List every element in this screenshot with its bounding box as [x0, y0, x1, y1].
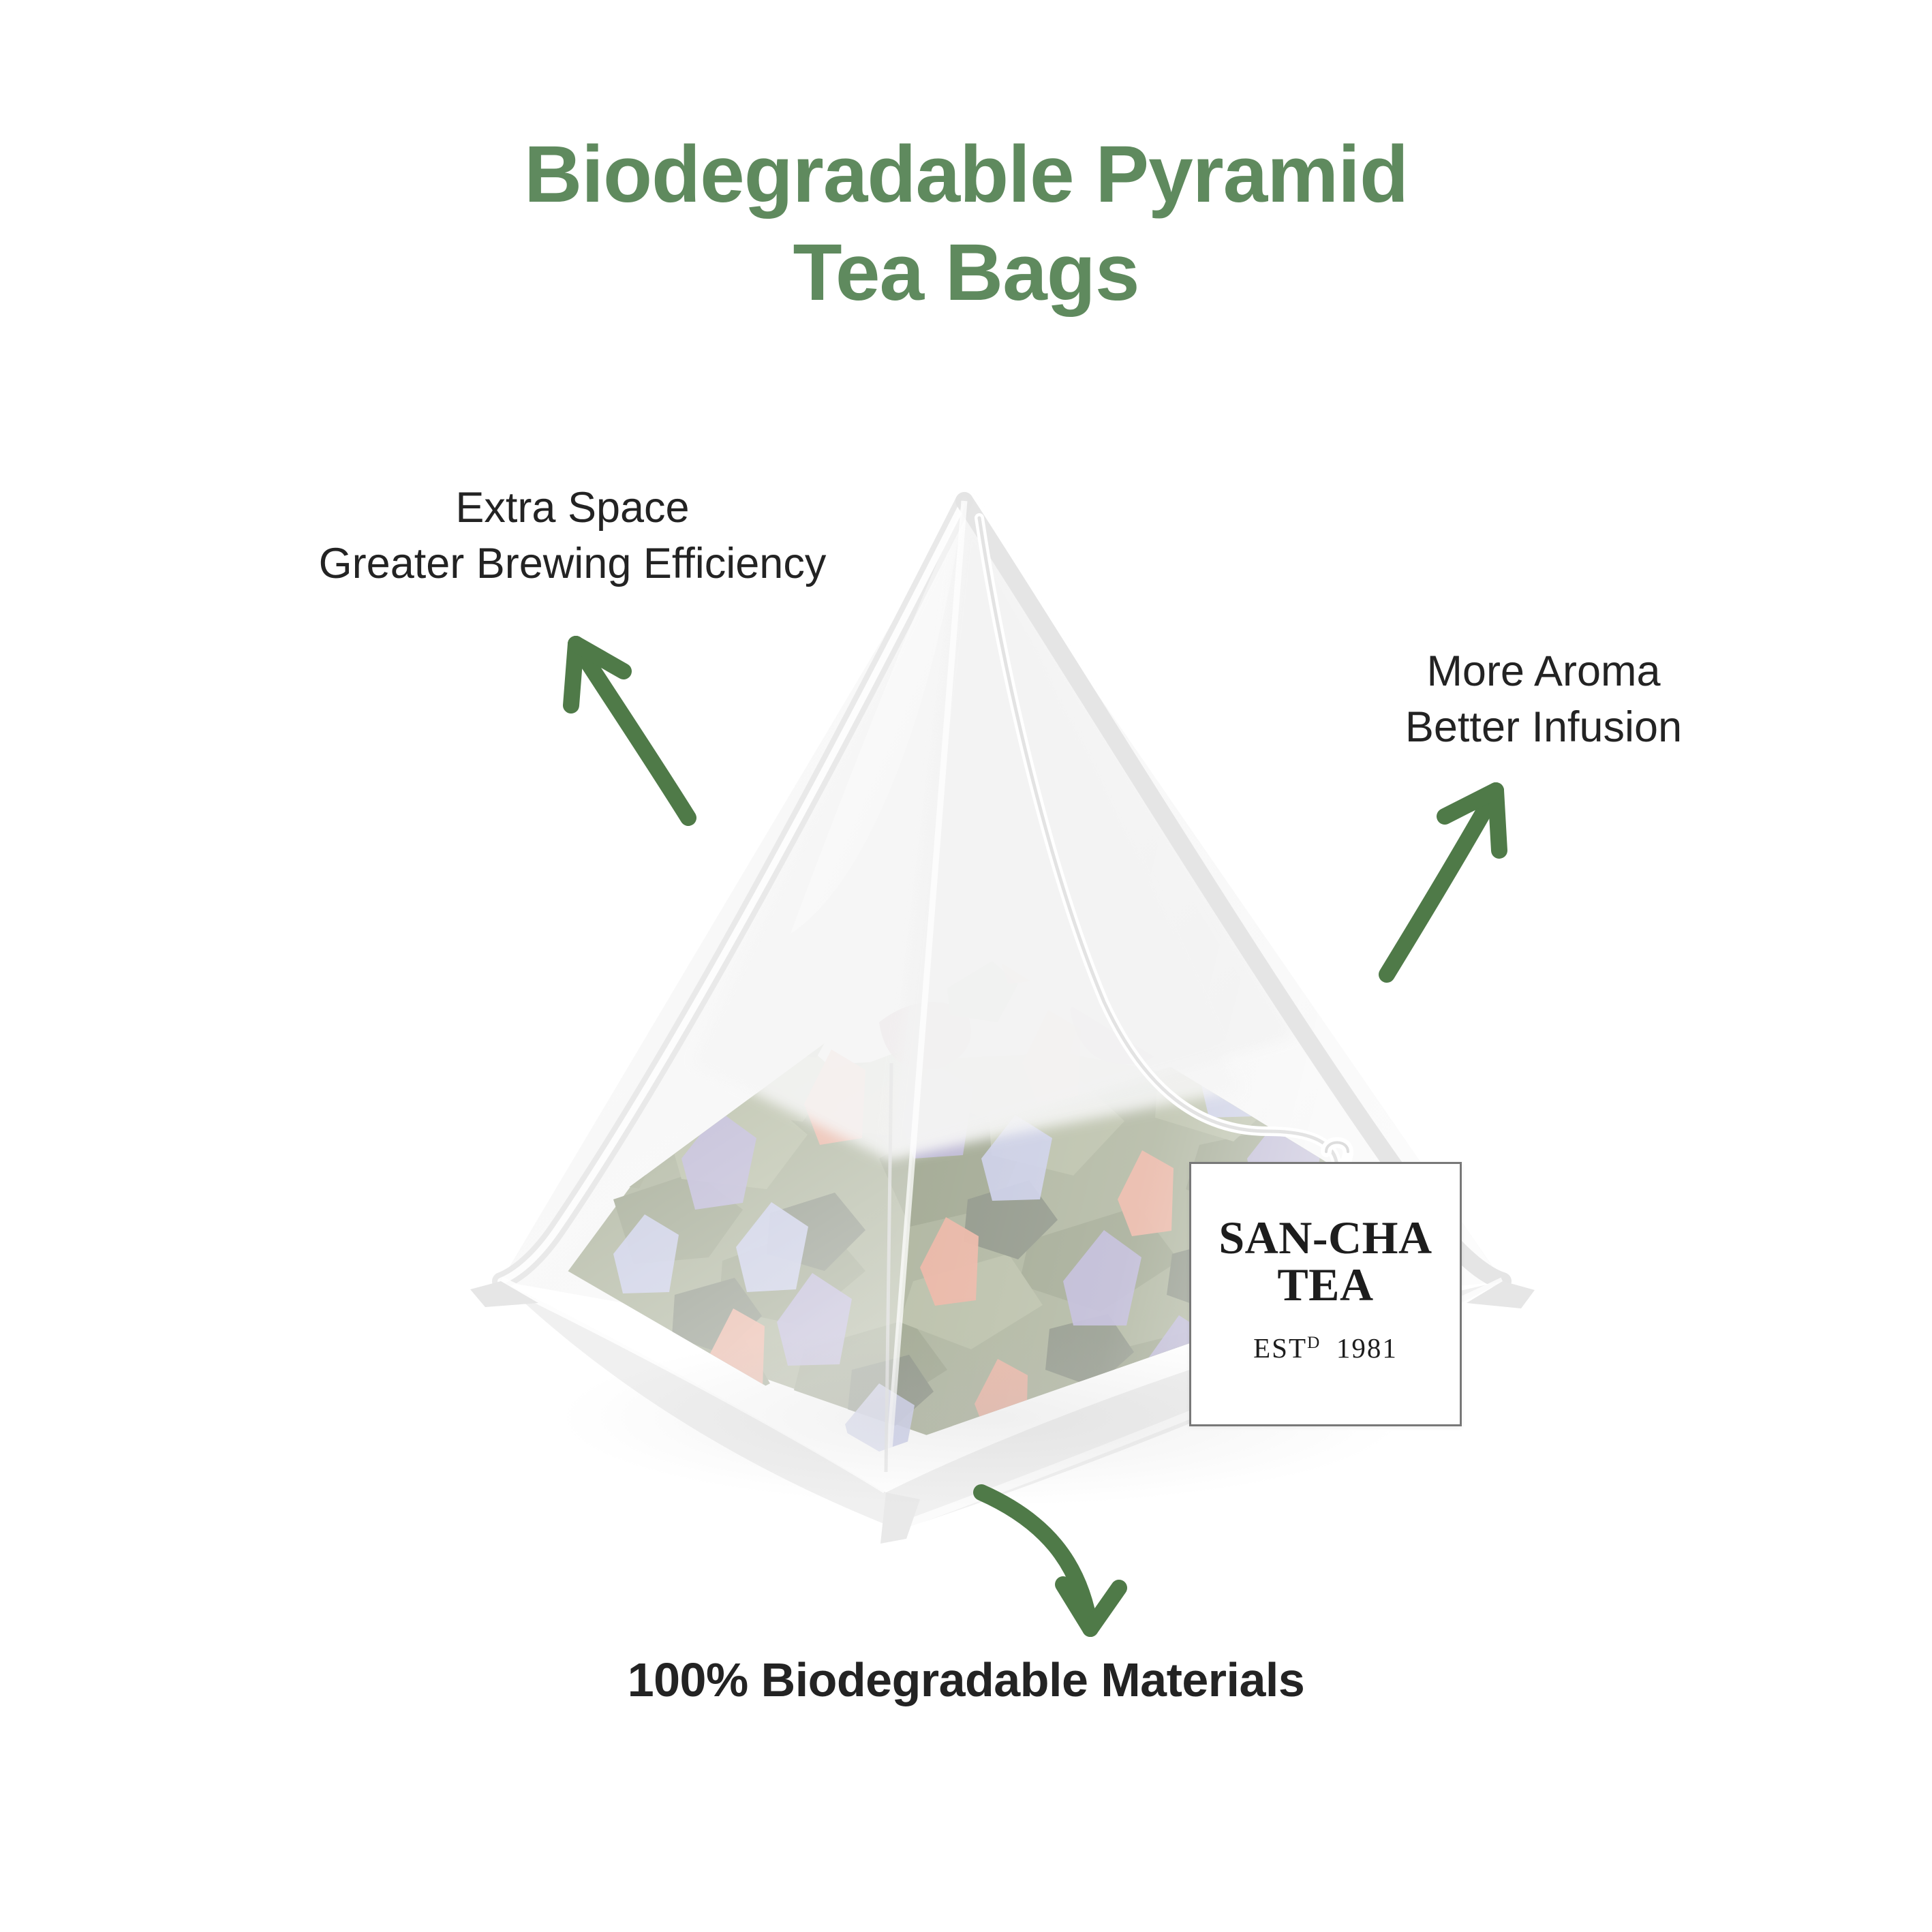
callout-extra-space: Extra Space Greater Brewing Efficiency — [204, 480, 940, 592]
callout-more-aroma-line-2: Better Infusion — [1332, 700, 1755, 756]
brand-name: SAN-CHA TEA — [1218, 1214, 1432, 1309]
infographic-canvas: Biodegradable Pyramid Tea Bags — [0, 0, 1932, 1932]
brand-tag: SAN-CHA TEA ESTD 1981 — [1189, 1162, 1462, 1426]
callout-extra-space-line-1: Extra Space — [204, 480, 940, 536]
brand-line-2: TEA — [1218, 1261, 1432, 1308]
callout-more-aroma-line-1: More Aroma — [1332, 644, 1755, 700]
estd-year: 1981 — [1336, 1332, 1398, 1364]
brand-line-1: SAN-CHA — [1218, 1214, 1432, 1261]
callout-more-aroma: More Aroma Better Infusion — [1332, 644, 1755, 756]
callout-extra-space-line-2: Greater Brewing Efficiency — [204, 536, 940, 592]
callout-biodegradable: 100% Biodegradable Materials — [0, 1653, 1932, 1707]
established-line: ESTD 1981 — [1253, 1332, 1398, 1364]
estd-label: EST — [1253, 1332, 1307, 1364]
estd-superscript: D — [1307, 1333, 1319, 1352]
pyramid-tea-bag-illustration — [0, 0, 1932, 1932]
